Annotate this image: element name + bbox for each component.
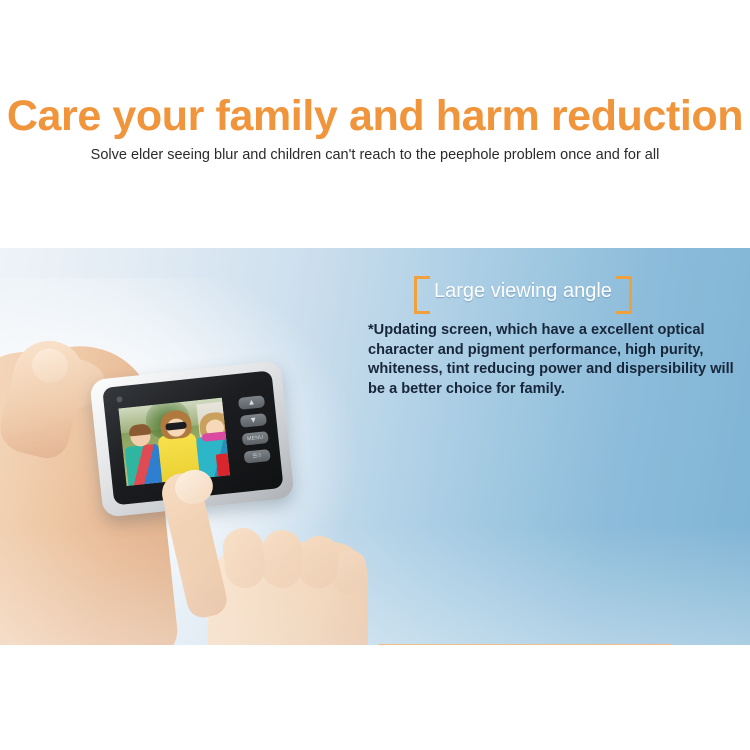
triangle-down-icon: ▼ [249, 416, 258, 425]
thumb-nail [28, 345, 71, 387]
device-button-group: ▲ ▼ MENU ☰⏱ [238, 395, 271, 469]
bracket-right-icon [616, 276, 632, 314]
product-banner-page: Care your family and harm reduction Solv… [0, 0, 750, 750]
header-section: Care your family and harm reduction Solv… [0, 0, 750, 248]
boy-hair [128, 423, 151, 436]
menu-button-label: MENU [247, 435, 264, 443]
feature-badge-label: Large viewing angle [434, 280, 612, 302]
photo-button[interactable]: ☰⏱ [244, 449, 271, 464]
feature-text-column: Large viewing angle *Updating screen, wh… [368, 276, 740, 399]
triangle-up-icon: ▲ [247, 398, 256, 407]
page-subtitle: Solve elder seeing blur and children can… [0, 145, 750, 165]
banner-bottom-fade [0, 525, 750, 645]
red-book [216, 453, 230, 477]
feature-description: *Updating screen, which have a excellent… [368, 321, 740, 399]
feature-banner: ▲ ▼ MENU ☰⏱ [0, 248, 750, 645]
feature-badge: Large viewing angle [414, 276, 632, 308]
screen-family-photo [118, 398, 230, 486]
up-button[interactable]: ▲ [238, 395, 265, 410]
menu-button[interactable]: MENU [242, 431, 269, 446]
camera-lens-icon [116, 396, 123, 403]
device-screen [118, 398, 230, 486]
bracket-left-icon [414, 276, 430, 314]
photo-person-girl-right [194, 413, 230, 479]
down-button[interactable]: ▼ [240, 413, 267, 428]
photo-timer-icon: ☰⏱ [252, 452, 262, 460]
page-title: Care your family and harm reduction [0, 92, 750, 140]
